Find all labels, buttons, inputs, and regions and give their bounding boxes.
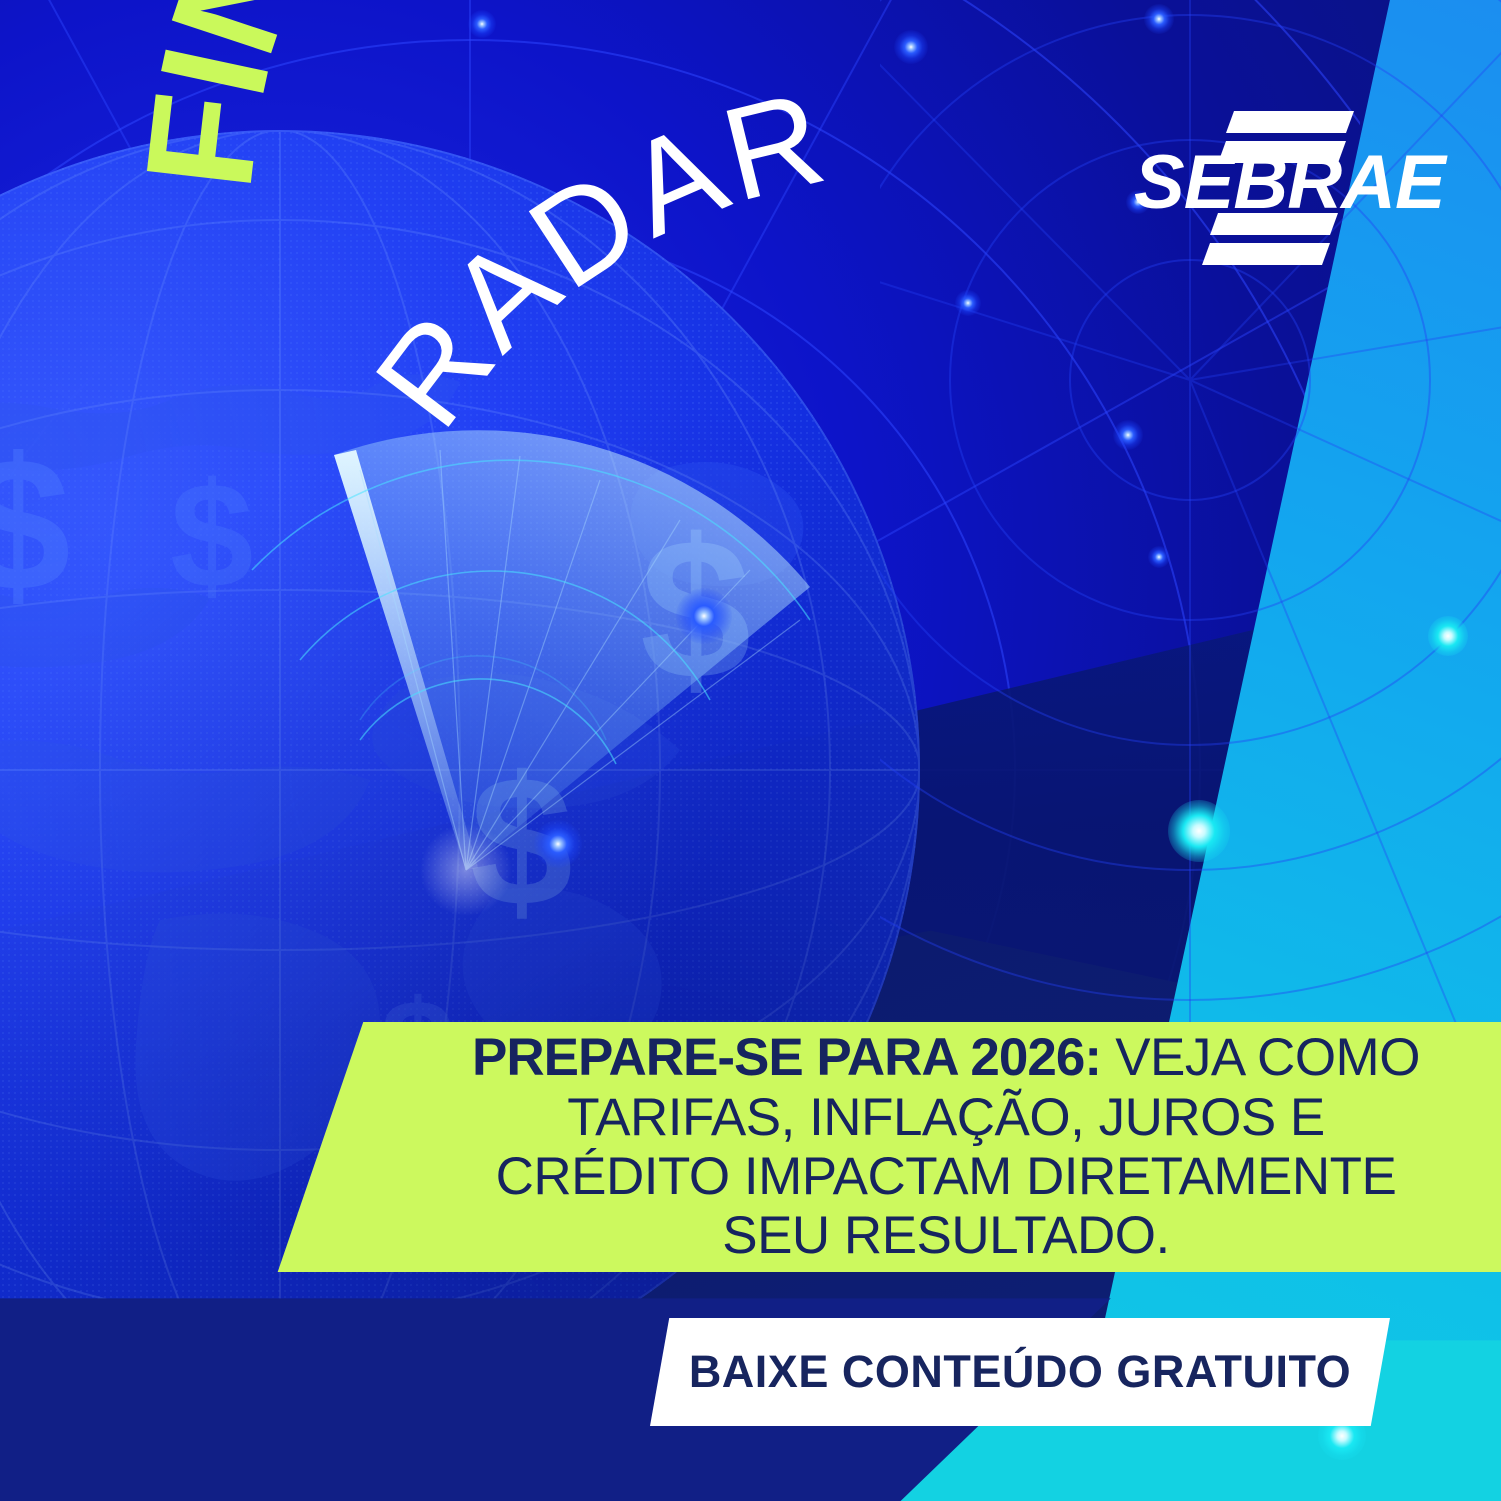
download-cta-button[interactable]: BAIXE CONTEÚDO GRATUITO: [650, 1318, 1390, 1426]
headline-banner-text: PREPARE-SE PARA 2026: VEJA COMO TARIFAS,…: [446, 1028, 1501, 1265]
sebrae-logo: SEBRAE: [1130, 105, 1460, 270]
poster-canvas: $ $ $ $ $ $: [0, 0, 1501, 1501]
sebrae-wordmark: SEBRAE: [1134, 140, 1448, 225]
sebrae-logo-mark: SEBRAE: [1130, 105, 1460, 270]
headline-lead: PREPARE-SE PARA 2026:: [472, 1028, 1101, 1087]
download-cta-label: BAIXE CONTEÚDO GRATUITO: [689, 1346, 1351, 1398]
